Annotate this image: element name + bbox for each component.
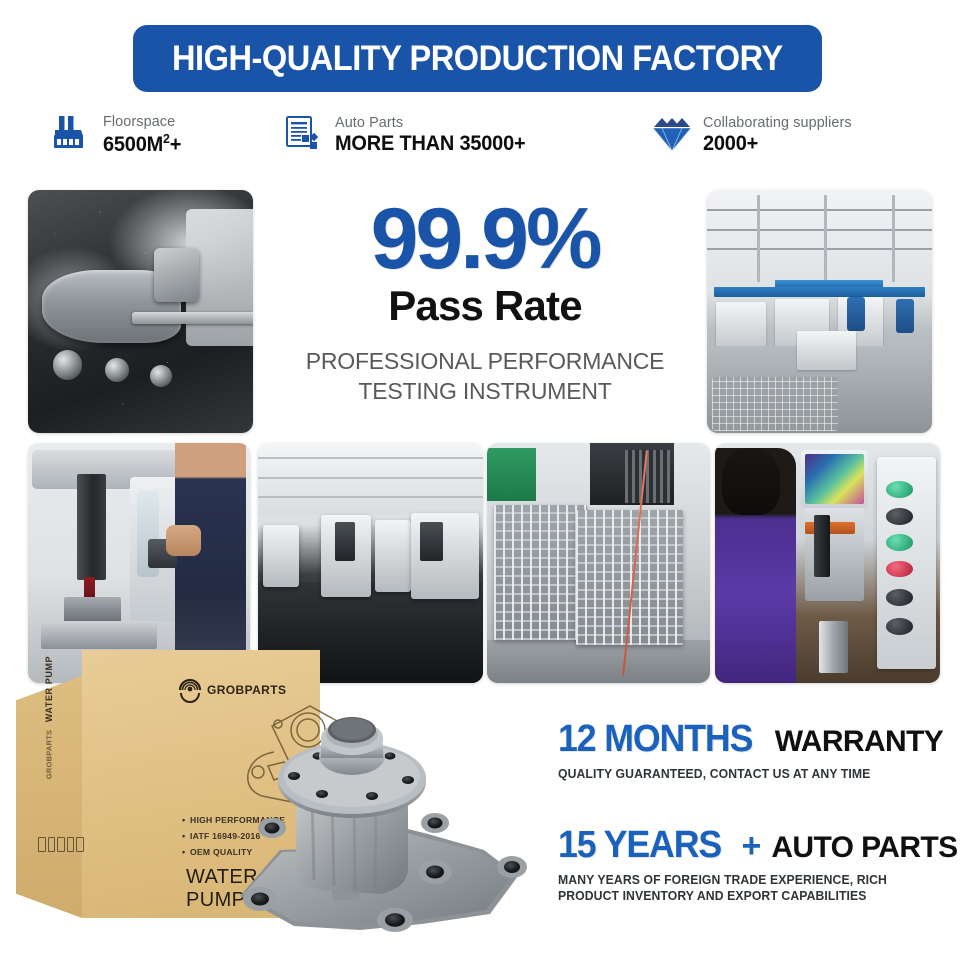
photo-worker-arm	[166, 525, 202, 556]
photo-column	[757, 195, 760, 282]
warranty-block: 12 MONTHS WARRANTY QUALITY GUARANTEED, C…	[558, 718, 950, 783]
experience-label: AUTO PARTS	[771, 831, 957, 865]
photo-wire-cage	[494, 505, 588, 639]
photo-rafter	[258, 496, 483, 498]
photo-cnc-machining-closeup	[28, 190, 253, 433]
grobparts-logo-icon	[176, 676, 204, 704]
hero-subtitle: PROFESSIONAL PERFORMANCE TESTING INSTRUM…	[280, 346, 690, 407]
promo-banner-image: HIGH-QUALITY PRODUCTION FACTORY Floorspa…	[0, 0, 960, 960]
photo-workstation	[716, 302, 766, 351]
stat-value: 6500M2+	[103, 132, 181, 155]
experience-subtext-line1: MANY YEARS OF FOREIGN TRADE EXPERIENCE, …	[558, 872, 938, 889]
plus-symbol: +	[741, 827, 761, 866]
photo-green-machine	[487, 448, 536, 501]
photo-rafter	[258, 457, 483, 459]
factory-icon	[50, 112, 94, 156]
header-banner: HIGH-QUALITY PRODUCTION FACTORY	[133, 25, 822, 92]
photo-worker	[847, 297, 865, 331]
photo-hmi-screen	[801, 450, 869, 508]
hero-subtitle-line2: TESTING INSTRUMENT	[280, 376, 690, 406]
stat-label: Floorspace	[103, 114, 182, 129]
stat-floorspace: Floorspace 6500M2+	[50, 112, 185, 156]
photo-knob	[886, 508, 913, 525]
photo-press-tooling	[805, 522, 855, 534]
photo-machine-grille	[625, 450, 670, 503]
photo-floor	[487, 640, 710, 683]
photo-spindle-shaft	[132, 312, 254, 324]
photo-roof-beam	[707, 209, 932, 211]
diamond-icon	[650, 112, 694, 156]
experience-subtext-line2: PRODUCT INVENTORY AND EXPORT CAPABILITIE…	[558, 888, 938, 905]
experience-block: 15 YEARS + AUTO PARTS MANY YEARS OF FORE…	[558, 824, 950, 905]
pass-rate-percent: 99.9%	[280, 198, 690, 281]
stat-auto-parts: Auto Parts MORE THAN 35000+	[282, 112, 535, 156]
photo-worker	[896, 299, 914, 333]
photo-cnc-machine	[375, 520, 411, 592]
photo-castings-in-wire-cages	[487, 443, 710, 683]
photo-roof-beam	[707, 229, 932, 231]
photo-control-panel	[420, 522, 443, 560]
photo-cabinet	[263, 525, 299, 587]
photo-wire-cage	[712, 377, 838, 430]
photo-press-operation	[715, 443, 940, 683]
photo-workpiece	[819, 621, 848, 674]
photo-hmi-display	[805, 454, 865, 504]
photo-bench	[797, 331, 856, 370]
stat-value: MORE THAN 35000+	[335, 133, 525, 154]
photo-wire-cage	[576, 510, 683, 644]
experience-subtext: MANY YEARS OF FOREIGN TRADE EXPERIENCE, …	[558, 872, 938, 905]
warranty-subtext: QUALITY GUARANTEED, CONTACT US AT ANY TI…	[558, 766, 938, 783]
hero-text-block: 99.9% Pass Rate PROFESSIONAL PERFORMANCE…	[280, 198, 690, 406]
parts-list-icon	[282, 112, 326, 156]
warranty-duration: 12 MONTHS	[558, 718, 752, 761]
photo-factory-workshop-overview	[707, 190, 932, 433]
stat-label: Auto Parts	[335, 115, 527, 130]
photo-boss	[105, 358, 130, 382]
photo-blue-rail	[714, 287, 926, 297]
photo-button-green	[886, 534, 913, 551]
photo-boss	[53, 350, 82, 379]
photo-worker-hair	[722, 448, 781, 515]
stat-suppliers: Collaborating suppliers 2000+	[650, 112, 858, 156]
photo-knob	[886, 618, 913, 635]
photo-blue-rail-upper	[775, 280, 883, 287]
experience-years: 15 YEARS	[558, 824, 721, 867]
photo-control-panel	[335, 522, 355, 560]
product-photo-water-pump	[222, 700, 542, 936]
photo-press-ram	[814, 515, 830, 577]
photo-cmm-ram	[77, 474, 106, 580]
hero-subtitle-line1: PROFESSIONAL PERFORMANCE	[280, 346, 690, 376]
warranty-label: WARRANTY	[775, 725, 944, 759]
photo-column	[824, 195, 827, 282]
stat-label: Collaborating suppliers	[703, 115, 852, 130]
product-box-side-text: WATER PUMP	[44, 644, 54, 734]
photo-ceiling	[707, 190, 932, 287]
marketing-copy: 12 MONTHS WARRANTY QUALITY GUARANTEED, C…	[558, 718, 950, 905]
photo-rafter	[258, 477, 483, 479]
product-box-side-brand: GROBPARTS	[45, 735, 53, 779]
stats-row: Floorspace 6500M2+ Auto Part	[0, 112, 960, 174]
pass-rate-label: Pass Rate	[280, 283, 690, 329]
photo-boss	[150, 365, 173, 387]
shipping-symbols-icon	[38, 832, 84, 856]
stat-value: 2000+	[703, 133, 850, 154]
photo-cutting-tool	[154, 248, 199, 301]
photo-ceiling	[258, 443, 483, 515]
photo-roof-beam	[707, 248, 932, 250]
page-title: HIGH-QUALITY PRODUCTION FACTORY	[172, 39, 783, 79]
photo-column	[892, 195, 895, 282]
